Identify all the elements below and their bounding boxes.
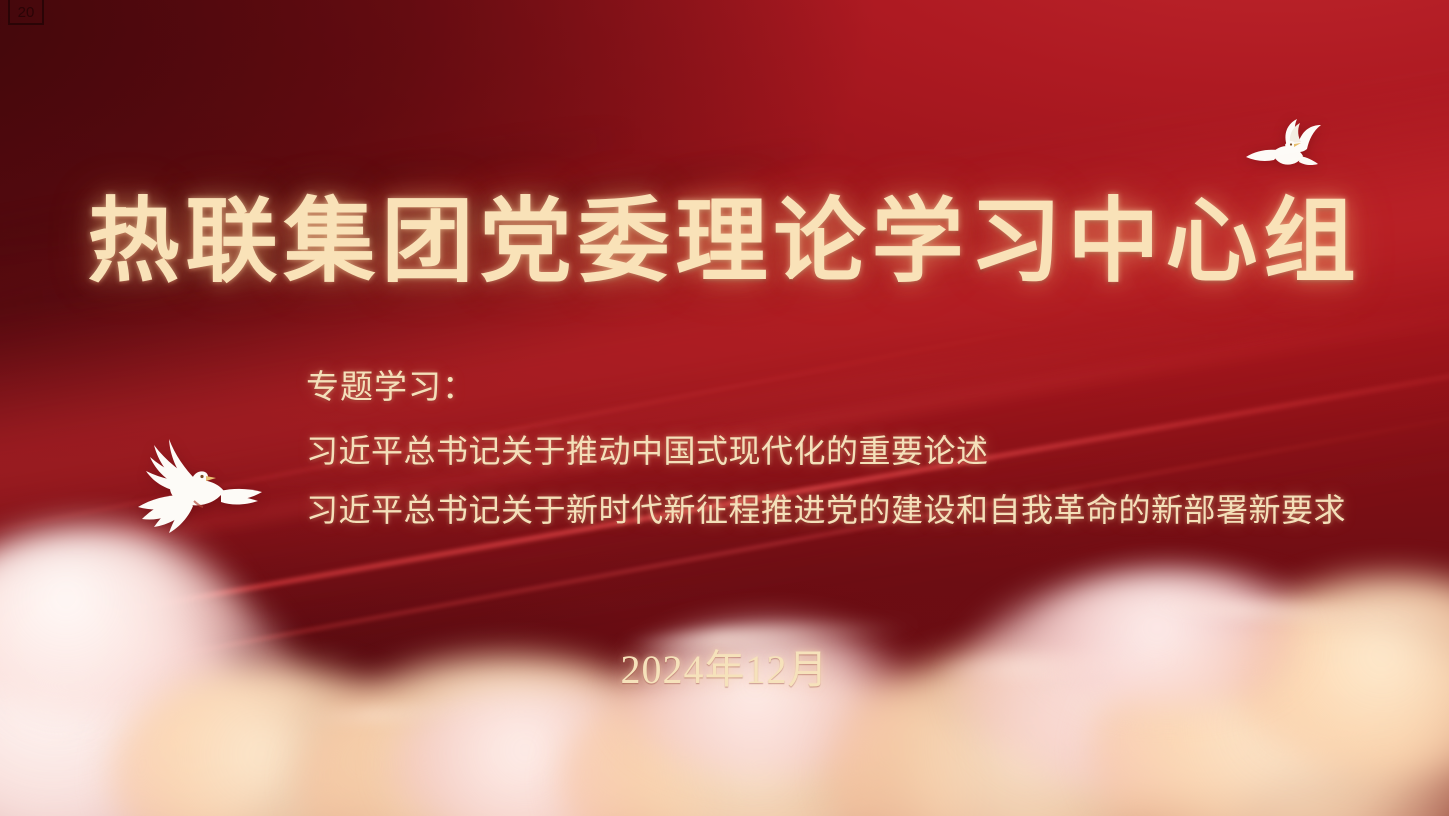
- topic-item: 习近平总书记关于新时代新征程推进党的建设和自我革命的新部署新要求: [306, 494, 1366, 526]
- topic-item: 习近平总书记关于推动中国式现代化的重要论述: [306, 435, 1366, 467]
- slide-number-badge[interactable]: 20: [8, 0, 44, 25]
- slide-body: 专题学习： 习近平总书记关于推动中国式现代化的重要论述 习近平总书记关于新时代新…: [306, 372, 1366, 526]
- slide-date: 2024年12月: [0, 637, 1449, 695]
- page-title: 热联集团党委理论学习中心组: [0, 196, 1449, 288]
- presentation-slide: 热联集团党委理论学习中心组 专题学习： 习近平总书记关于推动中国式现代化的重要论…: [0, 0, 1449, 816]
- dove-icon: [1243, 116, 1327, 182]
- subtitle-label: 专题学习：: [306, 372, 1366, 405]
- dove-icon: [134, 435, 264, 547]
